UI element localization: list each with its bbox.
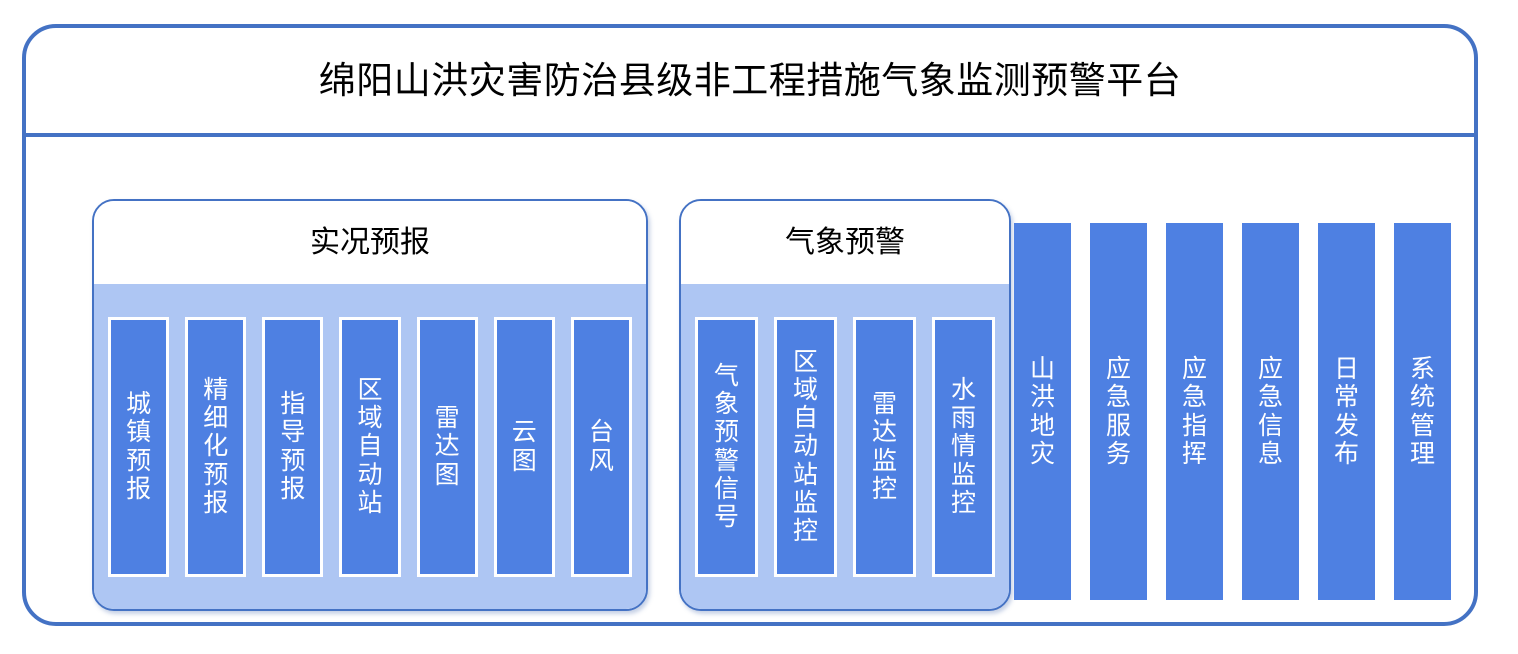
module-item-label: 山洪地灾 bbox=[1030, 355, 1055, 468]
module-item-leidajiankong[interactable]: 雷达监控 bbox=[853, 317, 916, 577]
module-item-xitongguanli[interactable]: 系统管理 bbox=[1394, 223, 1451, 600]
module-item-label: 系统管理 bbox=[1410, 355, 1435, 468]
panel-shikuang: 实况预报 城镇预报 精细化预报 指导预报 区域自动站 雷达图 bbox=[92, 199, 648, 611]
page-title: 绵阳山洪灾害防治县级非工程措施气象监测预警平台 bbox=[319, 62, 1182, 99]
panel-qixiang-title: 气象预警 bbox=[785, 228, 905, 258]
module-item-yuntu[interactable]: 云图 bbox=[494, 317, 555, 577]
module-item-label: 云图 bbox=[512, 418, 537, 475]
module-item-shuiyuqingjiankong[interactable]: 水雨情监控 bbox=[932, 317, 995, 577]
module-item-chengzhenyubao[interactable]: 城镇预报 bbox=[108, 317, 169, 577]
standalone-modules: 山洪地灾 应急服务 应急指挥 应急信息 日常发布 系统管理 bbox=[1014, 223, 1451, 600]
module-item-yingjizhihui[interactable]: 应急指挥 bbox=[1166, 223, 1223, 600]
module-item-richangfabu[interactable]: 日常发布 bbox=[1318, 223, 1375, 600]
module-item-shanhongdizai[interactable]: 山洪地灾 bbox=[1014, 223, 1071, 600]
module-item-label: 应急信息 bbox=[1258, 355, 1283, 468]
panel-qixiang-body: 气象预警信号 区域自动站监控 雷达监控 水雨情监控 bbox=[681, 284, 1009, 609]
module-item-label: 应急服务 bbox=[1106, 355, 1131, 468]
module-item-qixiangyujingxinhao[interactable]: 气象预警信号 bbox=[695, 317, 758, 577]
panel-shikuang-header: 实况预报 bbox=[94, 201, 646, 284]
module-item-label: 雷达图 bbox=[435, 404, 460, 489]
module-item-jingxihuayubao[interactable]: 精细化预报 bbox=[185, 317, 246, 577]
module-item-label: 台风 bbox=[589, 418, 614, 475]
module-item-label: 水雨情监控 bbox=[951, 376, 976, 517]
module-item-label: 日常发布 bbox=[1334, 355, 1359, 468]
module-item-label: 指导预报 bbox=[280, 390, 305, 503]
module-item-label: 精细化预报 bbox=[203, 376, 228, 517]
module-item-label: 区域自动站 bbox=[357, 376, 382, 517]
module-item-label: 区域自动站监控 bbox=[793, 348, 818, 546]
module-item-quyuzidongzhanjiankong[interactable]: 区域自动站监控 bbox=[774, 317, 837, 577]
module-item-label: 气象预警信号 bbox=[714, 362, 739, 532]
modules-area: 实况预报 城镇预报 精细化预报 指导预报 区域自动站 雷达图 bbox=[26, 137, 1474, 622]
module-item-label: 城镇预报 bbox=[126, 390, 151, 503]
module-item-label: 雷达监控 bbox=[872, 390, 897, 503]
module-item-yingjifuwu[interactable]: 应急服务 bbox=[1090, 223, 1147, 600]
module-item-leidatu[interactable]: 雷达图 bbox=[417, 317, 478, 577]
module-item-label: 应急指挥 bbox=[1182, 355, 1207, 468]
panel-qixiang-header: 气象预警 bbox=[681, 201, 1009, 284]
module-item-quyuzidongzhan[interactable]: 区域自动站 bbox=[339, 317, 400, 577]
module-item-taifeng[interactable]: 台风 bbox=[571, 317, 632, 577]
panel-shikuang-title: 实况预报 bbox=[310, 228, 430, 258]
module-item-zhidaoyubao[interactable]: 指导预报 bbox=[262, 317, 323, 577]
panel-qixiang: 气象预警 气象预警信号 区域自动站监控 雷达监控 水雨情监控 bbox=[679, 199, 1011, 611]
application-frame: 绵阳山洪灾害防治县级非工程措施气象监测预警平台 实况预报 城镇预报 精细化预报 … bbox=[22, 24, 1478, 626]
module-item-yingjixinxi[interactable]: 应急信息 bbox=[1242, 223, 1299, 600]
panel-shikuang-body: 城镇预报 精细化预报 指导预报 区域自动站 雷达图 云图 台风 bbox=[94, 284, 646, 609]
title-bar: 绵阳山洪灾害防治县级非工程措施气象监测预警平台 bbox=[26, 28, 1474, 133]
